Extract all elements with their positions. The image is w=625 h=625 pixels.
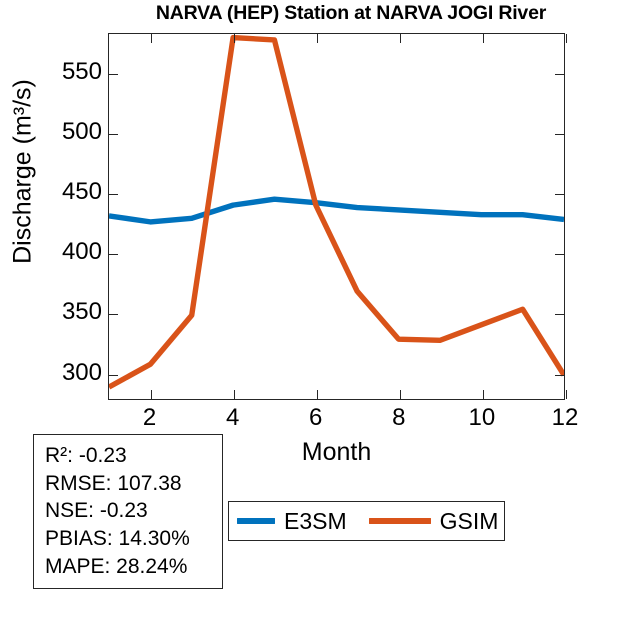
x-tick-mark: [234, 34, 235, 43]
page-title: NARVA (HEP) Station at NARVA JOGI River: [86, 2, 616, 25]
x-tick-mark: [151, 34, 152, 43]
y-tick-mark: [555, 134, 564, 135]
x-tick-mark: [566, 390, 567, 399]
x-tick-mark: [566, 34, 567, 43]
y-tick-label: 350: [32, 300, 102, 324]
plot-lines: [109, 34, 564, 399]
stat-mape: MAPE: 28.24%: [45, 553, 222, 581]
x-tick-label: 8: [369, 404, 429, 432]
y-tick-mark: [555, 194, 564, 195]
legend-item-gsim[interactable]: GSIM: [369, 502, 499, 540]
x-tick-label: 6: [286, 404, 346, 432]
statistics-box: R²: -0.23 RMSE: 107.38 NSE: -0.23 PBIAS:…: [33, 434, 223, 589]
legend-item-e3sm[interactable]: E3SM: [237, 502, 347, 540]
x-tick-label: 10: [452, 404, 512, 432]
y-tick-mark: [109, 375, 118, 376]
x-tick-mark: [483, 34, 484, 43]
chart-figure: NARVA (HEP) Station at NARVA JOGI River …: [0, 0, 625, 625]
y-tick-mark: [109, 254, 118, 255]
stat-r2: R²: -0.23: [45, 442, 222, 470]
legend-swatch-gsim-icon: [369, 518, 431, 524]
x-tick-mark: [317, 34, 318, 43]
y-tick-mark: [109, 74, 118, 75]
chart-legend[interactable]: E3SM GSIM: [228, 501, 505, 541]
y-tick-label: 450: [32, 180, 102, 204]
x-tick-label: 2: [120, 404, 180, 432]
stat-rmse: RMSE: 107.38: [45, 470, 222, 498]
y-tick-mark: [555, 375, 564, 376]
y-tick-label: 550: [32, 60, 102, 84]
x-tick-mark: [234, 390, 235, 399]
stat-nse: NSE: -0.23: [45, 497, 222, 525]
x-tick-label: 4: [203, 404, 263, 432]
y-axis-tick-labels: 300350400450500550: [22, 33, 102, 400]
y-tick-mark: [109, 134, 118, 135]
x-tick-mark: [400, 34, 401, 43]
y-tick-mark: [109, 194, 118, 195]
x-tick-mark: [317, 390, 318, 399]
x-axis-tick-labels: 24681012: [108, 404, 565, 438]
x-tick-mark: [151, 390, 152, 399]
y-tick-mark: [555, 314, 564, 315]
legend-label-gsim: GSIM: [440, 510, 499, 533]
legend-swatch-e3sm-icon: [237, 518, 275, 524]
y-tick-label: 500: [32, 120, 102, 144]
y-tick-mark: [555, 254, 564, 255]
legend-label-e3sm: E3SM: [284, 510, 347, 533]
x-tick-label: 12: [535, 404, 595, 432]
y-tick-label: 300: [32, 361, 102, 385]
series-line-e3sm: [109, 199, 564, 222]
x-tick-mark: [400, 390, 401, 399]
y-tick-mark: [109, 314, 118, 315]
y-tick-mark: [555, 74, 564, 75]
x-tick-mark: [483, 390, 484, 399]
y-tick-label: 400: [32, 240, 102, 264]
plot-area: [108, 33, 565, 400]
stat-pbias: PBIAS: 14.30%: [45, 525, 222, 553]
